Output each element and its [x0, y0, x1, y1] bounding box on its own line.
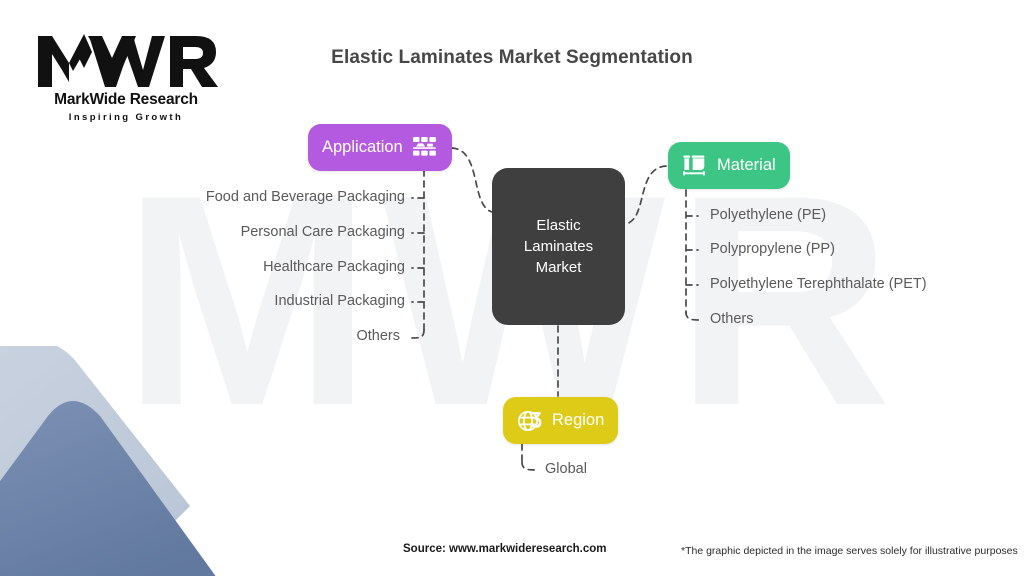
branch-badge-application-label: Application — [322, 138, 403, 157]
leaf-material-1: Polypropylene (PP) — [710, 241, 835, 257]
leaf-material-2: Polyethylene Terephthalate (PET) — [710, 276, 927, 292]
leaf-application-3: Industrial Packaging — [80, 293, 405, 309]
source-attribution: Source: www.markwideresearch.com — [403, 543, 606, 555]
tick-region-0 — [522, 462, 537, 470]
page-title: Elastic Laminates Market Segmentation — [0, 47, 1024, 69]
branch-badge-material-label: Material — [717, 156, 776, 175]
shelf-products-icon — [412, 135, 438, 161]
branch-badge-material[interactable]: Material — [668, 142, 790, 189]
leaf-application-2: Healthcare Packaging — [80, 259, 405, 275]
disclaimer-text: *The graphic depicted in the image serve… — [681, 545, 1018, 557]
leaf-application-4: Others — [80, 328, 400, 344]
center-node: Elastic Laminates Market — [492, 168, 625, 325]
branch-badge-application[interactable]: Application — [308, 124, 452, 171]
leaf-region-0: Global — [545, 461, 587, 477]
logo-tagline: Inspiring Growth — [26, 112, 226, 123]
tick-material-3 — [686, 312, 700, 320]
brand-logo: MarkWide Research Inspiring Growth — [26, 30, 226, 123]
decor-shape-back — [0, 346, 190, 576]
tick-application-4 — [411, 330, 424, 338]
leaf-material-3: Others — [710, 311, 754, 327]
fabric-roll-icon — [682, 153, 708, 179]
decor-shape-front — [0, 401, 230, 576]
center-node-label: Elastic Laminates Market — [524, 215, 593, 278]
leaf-application-0: Food and Beverage Packaging — [80, 189, 405, 205]
logo-company-name: MarkWide Research — [26, 91, 226, 109]
leaf-material-0: Polyethylene (PE) — [710, 207, 826, 223]
branch-badge-region[interactable]: Region — [503, 397, 618, 444]
link-material-center — [626, 166, 666, 224]
infographic-canvas: MWR — [0, 0, 1024, 576]
globe-icon — [517, 408, 543, 434]
decorative-corner-shapes — [0, 346, 300, 576]
branch-badge-region-label: Region — [552, 411, 604, 430]
leaf-application-1: Personal Care Packaging — [80, 224, 405, 240]
link-application-center — [452, 148, 492, 212]
